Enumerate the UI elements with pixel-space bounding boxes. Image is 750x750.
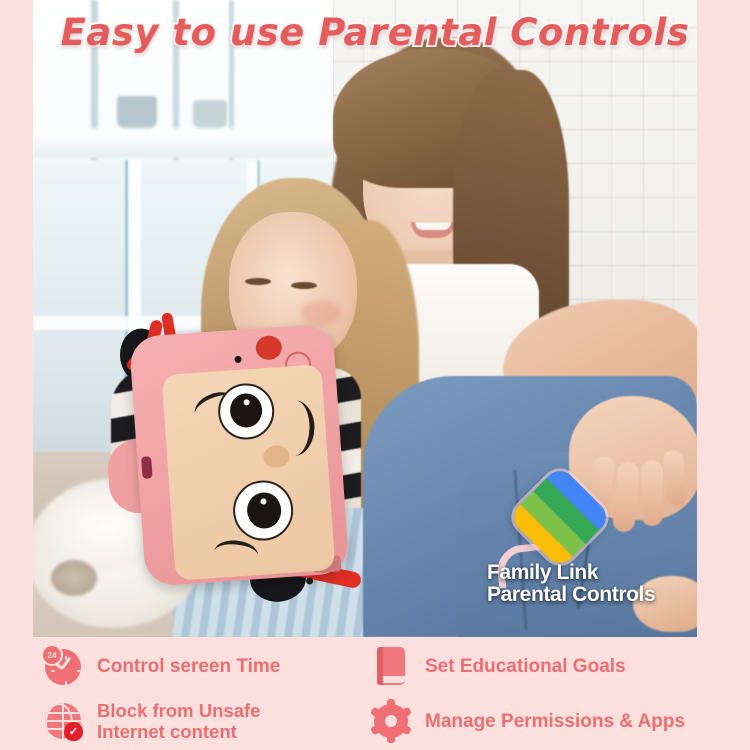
feature-label-line1: Block from Unsafe <box>97 700 260 721</box>
window-plant-pot <box>117 96 157 130</box>
promo-banner: Family Link Parental Controls Easy to us… <box>0 0 750 750</box>
family-link-line1: Family Link <box>487 562 697 584</box>
dog-snout <box>51 560 97 596</box>
case-body <box>129 323 350 587</box>
clock-24-badge: 24 <box>41 644 63 666</box>
window-sill <box>33 132 333 158</box>
page-title: Easy to use Parental Controls <box>0 11 750 54</box>
book-icon <box>370 645 412 687</box>
case-cheek <box>255 335 283 361</box>
feature-label: Block from Unsafe Internet content <box>97 700 260 742</box>
feature-list: 24 Control sereen Time Set Educational G… <box>0 640 750 750</box>
feature-educational-goals: Set Educational Goals <box>356 645 750 687</box>
feature-label: Set Educational Goals <box>425 656 626 677</box>
window-plant-pot <box>193 100 227 130</box>
child-eye <box>245 278 271 285</box>
family-link-line2: Parental Controls <box>487 584 697 606</box>
gear-icon <box>370 700 412 742</box>
feature-screen-time: 24 Control sereen Time <box>0 645 356 687</box>
camera-dot <box>234 356 241 363</box>
tablet-screen <box>161 364 335 581</box>
shield-check-icon: ✓ <box>64 722 83 741</box>
family-link-caption: Family Link Parental Controls <box>487 562 697 606</box>
feature-permissions: Manage Permissions & Apps <box>356 700 750 742</box>
mother-teeth <box>415 222 451 230</box>
cartoon-beak <box>263 445 290 469</box>
case-button <box>141 456 153 479</box>
child-eye <box>291 282 317 289</box>
globe-shield-icon: ✓ <box>42 700 84 742</box>
feature-label: Control sereen Time <box>97 656 280 677</box>
kids-tablet-case <box>120 305 361 600</box>
feature-label: Manage Permissions & Apps <box>425 711 685 732</box>
eyelash <box>213 538 259 568</box>
lifestyle-photo: Family Link Parental Controls <box>33 0 697 637</box>
feature-block-unsafe: ✓ Block from Unsafe Internet content <box>0 700 356 742</box>
clock-icon: 24 <box>42 645 84 687</box>
camera-dot <box>306 577 313 584</box>
family-link-badge: Family Link Parental Controls <box>499 478 689 626</box>
feature-label-line2: Internet content <box>97 721 260 742</box>
